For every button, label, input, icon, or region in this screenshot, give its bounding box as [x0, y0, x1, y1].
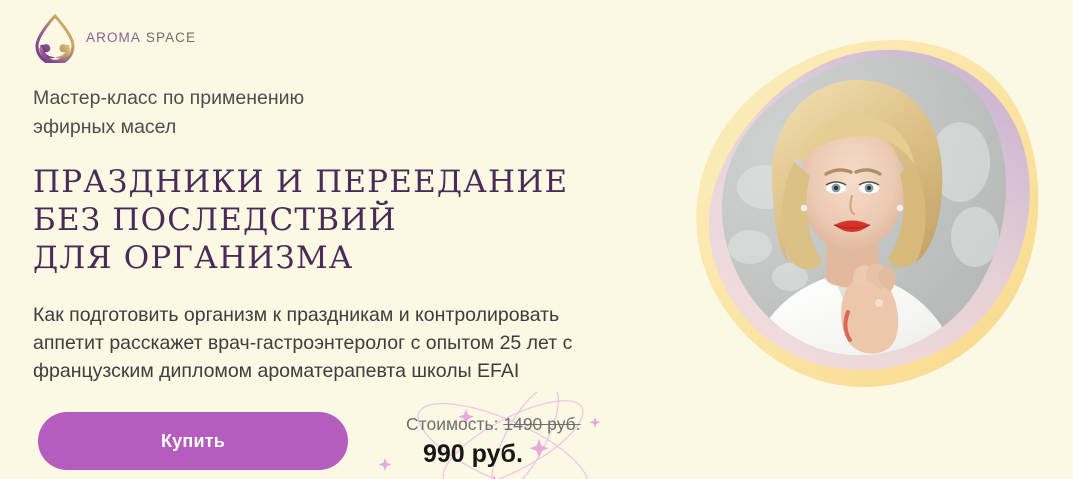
portrait-blob-graphic — [630, 22, 1073, 422]
page-title: ПРАЗДНИКИ И ПЕРЕЕДАНИЕ БЕЗ ПОСЛЕДСТВИЙ Д… — [33, 163, 643, 277]
buy-button[interactable]: Купить — [38, 412, 348, 470]
brand-name-aroma: AROMA — [86, 30, 141, 45]
droplet-logo-icon — [33, 13, 77, 63]
portrait-illustration — [630, 22, 1073, 422]
brand-logo[interactable]: AROMA SPACE — [33, 12, 196, 64]
price-label: Стоимость: — [406, 414, 498, 434]
price-new-value: 990 руб. — [423, 439, 523, 469]
brand-name-space: SPACE — [146, 30, 196, 45]
hero-eyebrow: Мастер-класс по применению эфирных масел — [33, 84, 643, 142]
hero-description: Как подготовить организм к праздникам и … — [33, 301, 643, 385]
cta-row: Купить Стоимость: 1490 руб. — [33, 412, 653, 479]
price-old: Стоимость: 1490 руб. — [406, 413, 581, 435]
price-old-value: 1490 руб. — [503, 414, 580, 434]
landing-hero-page: AROMA SPACE Мастер-класс по применению э… — [0, 0, 1073, 479]
brand-wordmark: AROMA SPACE — [86, 31, 196, 45]
price-block: Стоимость: 1490 руб. 990 руб. — [373, 412, 653, 479]
hero-copy: Мастер-класс по применению эфирных масел… — [33, 84, 643, 385]
